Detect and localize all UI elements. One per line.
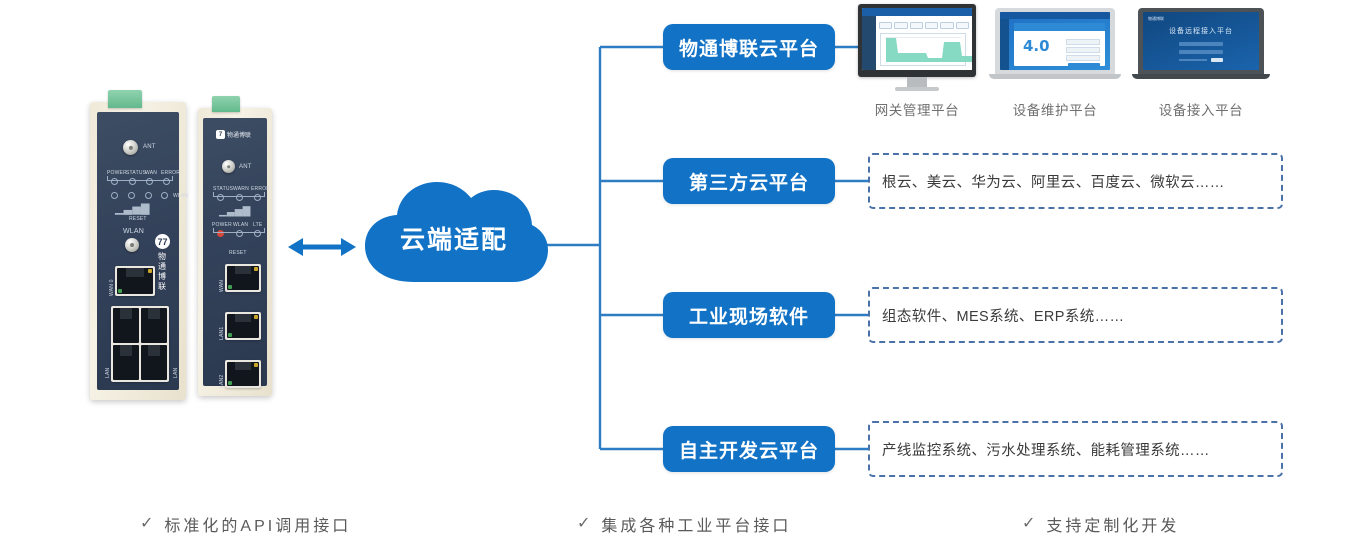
cloud-label: 云端适配 [355, 170, 553, 290]
node-industrial-software[interactable]: 工业现场软件 [663, 292, 835, 338]
port-label-lan-right: LAN [173, 368, 179, 378]
laptop-display-silver: 4.0 [1000, 12, 1110, 70]
toolbar-cell [956, 22, 969, 29]
monitor-display [862, 8, 972, 70]
screen-gateway-management [858, 4, 976, 91]
led-bracket-b2 [213, 228, 265, 233]
reset-label: RESET [129, 216, 147, 222]
gateway-dashboard-mockup [862, 8, 972, 70]
wlan-antenna-connector-icon [125, 238, 139, 252]
led-bracket-top [107, 176, 173, 181]
ant-connector-icon-b [222, 160, 235, 173]
brand-name-text: 物通博联 [227, 130, 251, 139]
terminal-block-green-b [212, 96, 240, 112]
laptop-lid-dark: 物通博联 设备远程接入平台 [1138, 8, 1264, 74]
mockup-title: 设备远程接入平台 [1169, 26, 1233, 36]
dashboard-toolbar [879, 22, 969, 29]
feature-label: 标准化的API调用接口 [164, 512, 351, 536]
port-lan4 [113, 345, 139, 380]
check-icon: ✓ [1022, 516, 1035, 532]
check-icon: ✓ [577, 516, 590, 532]
terminal-block-green [108, 90, 142, 108]
port-label-wan-b: WAN [219, 280, 225, 292]
ant-label: ANT [143, 144, 156, 150]
mockup-card: 4.0 [1014, 23, 1105, 66]
gateway-device-b: 7 物通博联 ANT STATUS WARN ERROR ▁▃▅▇ POWER … [198, 108, 272, 396]
mockup-logo-text: 物通博联 [1148, 16, 1164, 22]
port-lan1 [113, 308, 139, 343]
port-lan2-b [225, 360, 261, 388]
footer-features: ✓ 标准化的API调用接口 ✓ 集成各种工业平台接口 ✓ 支持定制化开发 [0, 508, 1369, 542]
mockup-field-3 [1066, 55, 1100, 61]
screen-device-access: 物通博联 设备远程接入平台 [1138, 8, 1264, 79]
gateway-device-a: ANT POWER STATUS WAN ERROR WLAN ▁▃▅▇ RES… [90, 102, 186, 400]
node-wtbl-cloud-platform[interactable]: 物通博联云平台 [663, 24, 835, 70]
mockup-field-1 [1066, 39, 1100, 45]
port-lan3 [141, 345, 167, 380]
mockup-username-field [1179, 42, 1223, 46]
port-wan0 [115, 266, 155, 296]
caption-device-maintenance: 设备维护平台 [995, 99, 1115, 119]
led-signal-4 [161, 192, 168, 199]
port-label-lan2-b: LAN2 [219, 375, 225, 388]
feature-label: 支持定制化开发 [1046, 512, 1179, 536]
dashboard-body [876, 16, 972, 70]
toolbar-cell [940, 22, 953, 29]
ant-label-b: ANT [239, 164, 252, 170]
detail-box-third-party-cloud: 根云、美云、华为云、阿里云、百度云、微软云…… [868, 153, 1283, 209]
access-login-mockup: 物通博联 设备远程接入平台 [1143, 12, 1259, 70]
captcha-image [1211, 58, 1223, 62]
mockup-submit-button [1068, 63, 1100, 68]
bidirectional-arrow [288, 238, 356, 256]
mockup-field-2 [1066, 47, 1100, 53]
led-label-wlan: WLAN [173, 193, 188, 199]
dashboard-chart-panel [880, 33, 966, 66]
port-lan2 [141, 308, 167, 343]
wlan-connector-label: WLAN [123, 228, 144, 235]
caption-device-access: 设备接入平台 [1141, 99, 1261, 119]
mockup-headline: 4.0 [1023, 37, 1050, 55]
led-signal-1 [111, 192, 118, 199]
feature-api-interface: ✓ 标准化的API调用接口 [140, 512, 351, 536]
toolbar-cell [879, 22, 892, 29]
feature-platform-integration: ✓ 集成各种工业平台接口 [577, 512, 791, 536]
led-signal-3 [145, 192, 152, 199]
signal-bars-icon: ▁▃▅▇ [115, 202, 150, 215]
led-signal-2 [128, 192, 135, 199]
signal-bars-icon-b: ▁▃▅▇ [219, 206, 251, 217]
device-a-faceplate: ANT POWER STATUS WAN ERROR WLAN ▁▃▅▇ RES… [97, 112, 179, 390]
led-bracket-b [213, 192, 265, 197]
port-label-lan-left: LAN [105, 368, 111, 378]
platform-screens-row: 4.0 物通博联 设备远程接入平台 [850, 2, 1310, 122]
check-icon: ✓ [140, 516, 153, 532]
dashboard-area-chart [886, 36, 972, 62]
mockup-captcha-row [1179, 58, 1223, 62]
feature-label: 集成各种工业平台接口 [601, 512, 791, 536]
brand-vertical-text: 物通博联 [157, 252, 167, 292]
laptop-hinge-dark [1132, 74, 1270, 79]
detail-box-industrial-software: 组态软件、MES系统、ERP系统…… [868, 287, 1283, 343]
device-b-logo: 7 物通博联 [216, 130, 251, 139]
port-label-wan0: WAN 0 [109, 279, 115, 296]
feature-custom-development: ✓ 支持定制化开发 [1022, 512, 1179, 536]
diagram-canvas: ANT POWER STATUS WAN ERROR WLAN ▁▃▅▇ RES… [0, 0, 1369, 544]
port-lan-group [111, 306, 169, 382]
maintenance-login-mockup: 4.0 [1000, 12, 1110, 70]
reset-label-b: RESET [229, 250, 247, 256]
laptop-hinge-silver [989, 74, 1121, 79]
toolbar-cell [925, 22, 938, 29]
toolbar-cell [910, 22, 923, 29]
node-third-party-cloud[interactable]: 第三方云平台 [663, 158, 835, 204]
monitor-stand [907, 77, 927, 87]
port-label-lan1-b: LAN1 [219, 327, 225, 340]
laptop-lid-silver: 4.0 [995, 8, 1115, 74]
ant-connector-icon [123, 140, 138, 155]
brand-dot-icon: 7 [216, 130, 225, 139]
port-wan-b [225, 264, 261, 292]
industrial-gateway-devices: ANT POWER STATUS WAN ERROR WLAN ▁▃▅▇ RES… [88, 78, 278, 400]
caption-gateway-management: 网关管理平台 [857, 99, 977, 119]
laptop-display-dark: 物通博联 设备远程接入平台 [1143, 12, 1259, 70]
mockup-titlebar [1000, 12, 1110, 19]
screen-device-maintenance: 4.0 [995, 8, 1115, 79]
mockup-sidebar [1000, 19, 1009, 70]
port-lan1-b [225, 312, 261, 340]
brand-logo-icon: 77 [155, 234, 170, 249]
mockup-password-field [1179, 50, 1223, 54]
monitor-base [895, 87, 939, 91]
dashboard-titlebar [862, 8, 972, 16]
toolbar-cell [894, 22, 907, 29]
node-self-developed-cloud[interactable]: 自主开发云平台 [663, 426, 835, 472]
monitor-bezel [858, 4, 976, 77]
captcha-input [1179, 59, 1207, 61]
mockup-card-header [1014, 23, 1105, 31]
detail-box-self-developed-cloud: 产线监控系统、污水处理系统、能耗管理系统…… [868, 421, 1283, 477]
dashboard-sidebar [862, 16, 876, 70]
device-b-faceplate: 7 物通博联 ANT STATUS WARN ERROR ▁▃▅▇ POWER … [203, 118, 267, 386]
cloud-adaptation-node[interactable]: 云端适配 [355, 170, 553, 290]
